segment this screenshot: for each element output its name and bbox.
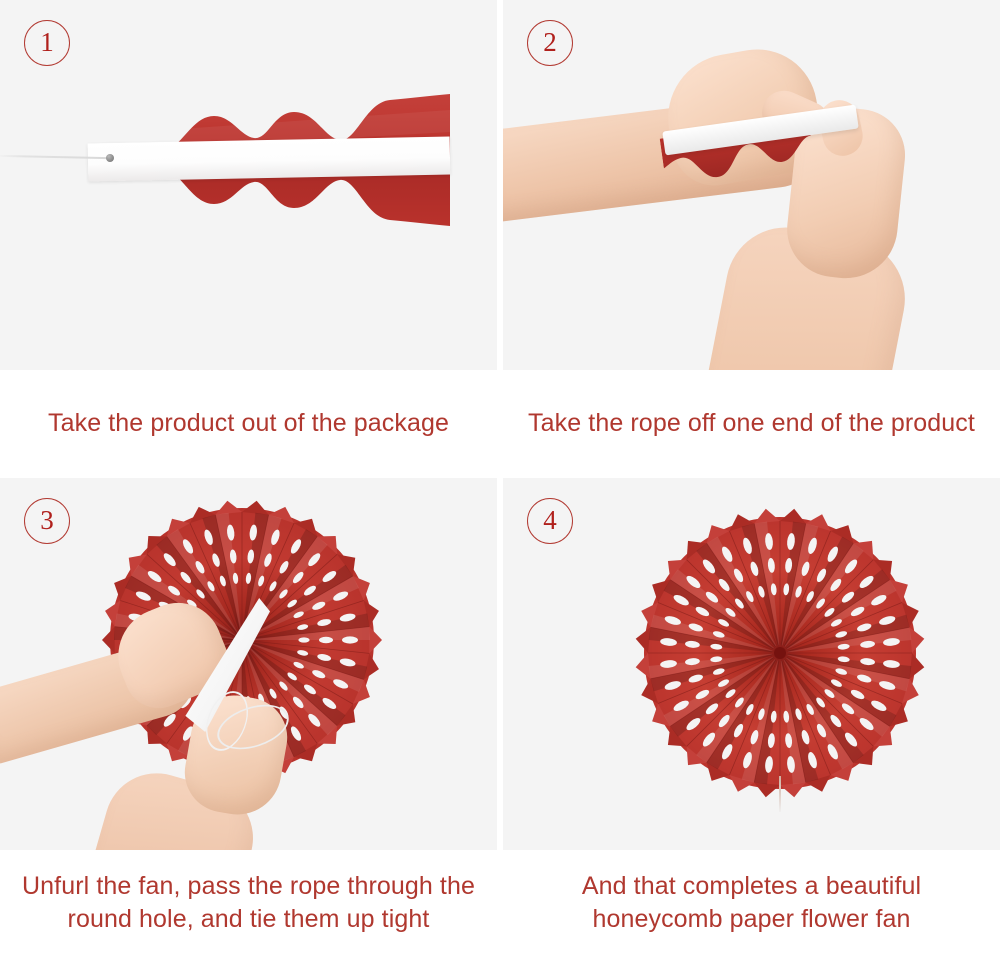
- step-badge-1: 1: [24, 20, 70, 66]
- step-panel-3: 3: [0, 478, 497, 956]
- step-badge-2: 2: [527, 20, 573, 66]
- step-3-caption-text: Unfurl the fan, pass the rope through th…: [22, 870, 475, 937]
- folded-fan-product: [88, 92, 458, 228]
- instruction-sheet: 1: [0, 0, 1000, 956]
- step-4-image: 4: [503, 478, 1000, 850]
- step-panel-2: 2 Take the rope off one end of the produ…: [503, 0, 1000, 478]
- step-1-caption-text: Take the product out of the package: [48, 407, 449, 440]
- white-card-strip: [88, 137, 451, 182]
- step-badge-3: 3: [24, 498, 70, 544]
- step-4-caption-line-1: And that completes a beautiful: [582, 870, 921, 903]
- hanging-string: [779, 776, 781, 812]
- step-2-caption: Take the rope off one end of the product: [503, 370, 1000, 478]
- step-panel-4: 4: [503, 478, 1000, 956]
- step-3-image: 3: [0, 478, 497, 850]
- step-2-caption-text: Take the rope off one end of the product: [528, 407, 975, 440]
- step-4-caption-line-2: honeycomb paper flower fan: [582, 903, 921, 936]
- step-1-caption: Take the product out of the package: [0, 370, 497, 478]
- step-3-caption-line-1: Unfurl the fan, pass the rope through th…: [22, 870, 475, 903]
- step-1-image: 1: [0, 0, 497, 370]
- finished-red-paper-flower-fan: [625, 498, 935, 808]
- step-4-caption-text: And that completes a beautiful honeycomb…: [582, 870, 921, 937]
- step-3-caption: Unfurl the fan, pass the rope through th…: [0, 850, 497, 956]
- step-badge-4: 4: [527, 498, 573, 544]
- step-2-image: 2: [503, 0, 1000, 370]
- step-4-caption: And that completes a beautiful honeycomb…: [503, 850, 1000, 956]
- eyelet-hole: [106, 154, 114, 162]
- step-panel-1: 1: [0, 0, 497, 478]
- step-3-caption-line-2: round hole, and tie them up tight: [22, 903, 475, 936]
